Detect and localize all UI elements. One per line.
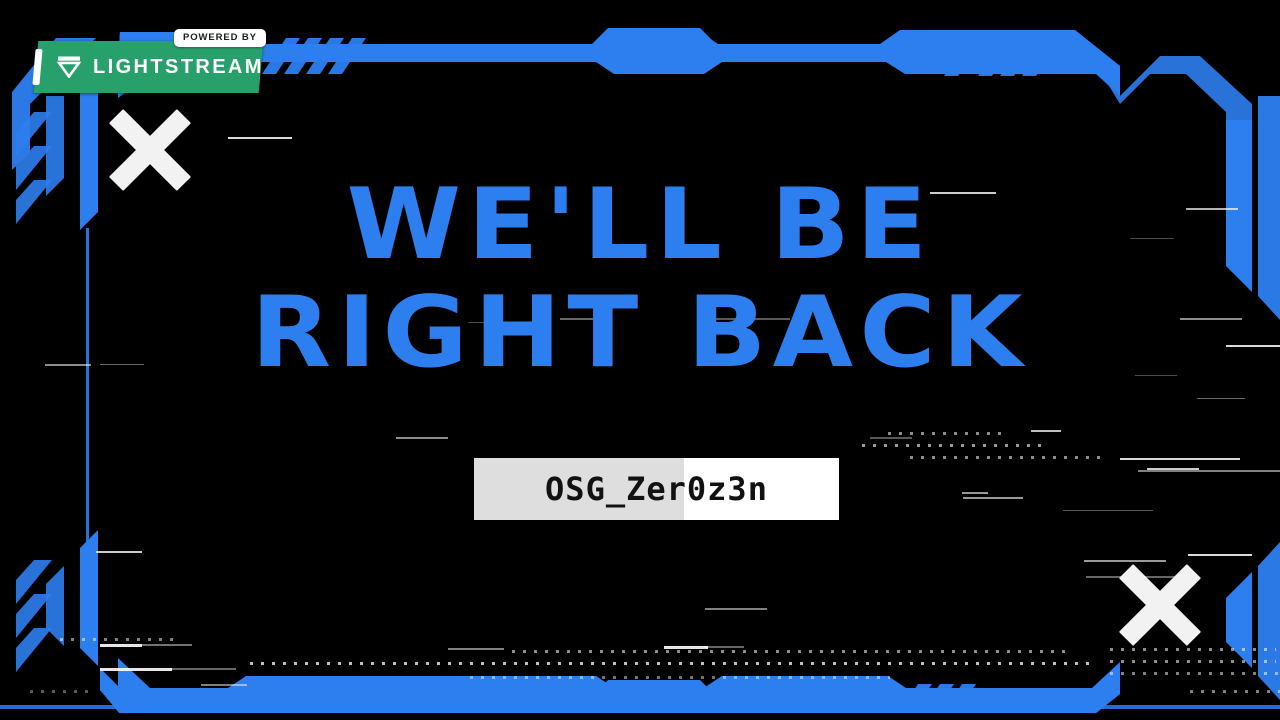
glitch-line: [396, 437, 448, 439]
glitch-dotted-row: [910, 456, 1100, 459]
glitch-line: [1084, 560, 1166, 562]
glitch-dotted-row: [1110, 648, 1276, 651]
glitch-line: [1138, 470, 1280, 472]
headline-line-2: RIGHT BACK: [0, 286, 1280, 380]
glitch-line: [448, 648, 504, 650]
glitch-line: [96, 551, 142, 553]
glitch-line: [100, 668, 172, 671]
glitch-dotted-row: [30, 690, 90, 693]
glitch-line: [1188, 554, 1252, 556]
glitch-line: [228, 137, 292, 139]
glitch-line: [201, 684, 247, 686]
glitch-dotted-row: [470, 676, 890, 679]
lightstream-triangle-icon: [56, 56, 82, 78]
username-label: OSG_Zer0z3n: [474, 458, 839, 520]
glitch-line: [1197, 398, 1245, 399]
lightstream-wordmark: LIGHTSTREAM: [93, 56, 264, 79]
stream-overlay-screen: WE'LL BE RIGHT BACK OSG_Zer0z3n LIGHTSTR…: [0, 0, 1280, 720]
glitch-line: [962, 492, 988, 494]
x-mark-icon: [110, 110, 190, 190]
glitch-line: [870, 437, 912, 439]
glitch-line: [142, 644, 192, 646]
x-mark-icon: [1120, 565, 1200, 645]
powered-by-tab: POWERED BY: [174, 29, 266, 47]
glitch-line: [963, 497, 1023, 499]
glitch-line: [704, 646, 744, 648]
glitch-dotted-row: [1190, 690, 1280, 693]
username-plate: OSG_Zer0z3n: [474, 458, 839, 520]
glitch-dotted-row: [250, 662, 1090, 665]
glitch-line: [705, 608, 767, 610]
glitch-line: [1063, 510, 1153, 511]
glitch-line: [1031, 430, 1061, 432]
lightstream-badge[interactable]: LIGHTSTREAM: [34, 41, 264, 93]
glitch-dotted-row: [1110, 672, 1280, 675]
glitch-line: [1120, 458, 1240, 460]
glitch-line: [170, 668, 236, 670]
glitch-dotted-row: [888, 432, 1008, 435]
glitch-dotted-row: [1110, 660, 1276, 663]
glitch-dotted-row: [512, 650, 1072, 653]
glitch-dotted-row: [60, 638, 180, 641]
headline-block: WE'LL BE RIGHT BACK: [0, 178, 1280, 380]
glitch-line: [1147, 468, 1199, 470]
glitch-line: [100, 644, 142, 647]
glitch-line: [664, 646, 708, 649]
glitch-dotted-row: [862, 444, 1042, 447]
headline-line-1: WE'LL BE: [0, 178, 1280, 272]
